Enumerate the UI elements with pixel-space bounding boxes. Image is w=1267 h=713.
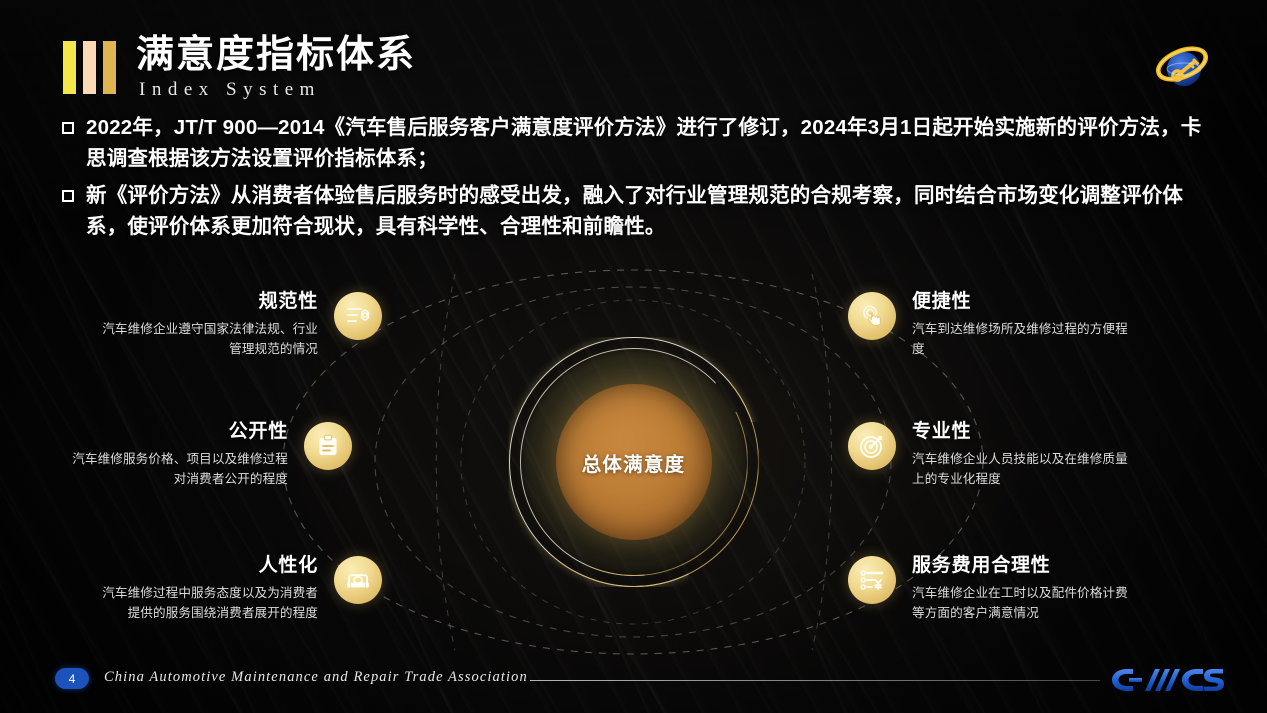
slide-header: 满意度指标体系 Index System [63,36,416,101]
slide-footer: 4 China Automotive Maintenance and Repai… [0,659,1267,713]
node-zhuanye-text: 专业性 汽车维修企业人员技能以及在维修质量上的专业化程度 [912,420,1140,490]
target-dart-icon [848,422,896,470]
car-service-icon [334,556,382,604]
core-group: 总体满意度 [484,312,784,612]
tap-hand-icon [848,292,896,340]
association-name: China Automotive Maintenance and Repair … [104,669,528,686]
accent-bar-2 [83,41,96,94]
node-guifan[interactable]: 规范性 汽车维修企业遵守国家法律法规、行业管理规范的情况 [90,290,382,360]
page-subtitle: Index System [136,79,416,101]
node-bianjie-title: 便捷性 [912,290,971,314]
page-number-badge: 4 [55,668,89,689]
bullet-item-1: 2022年，JT/T 900—2014《汽车售后服务客户满意度评价方法》进行了修… [62,112,1214,174]
index-system-diagram: 总体满意度 规范性 汽车维修企业遵守国家法律法规、行业管理规范的情况 [0,262,1267,662]
square-bullet-icon [62,190,74,202]
accent-bars [63,41,116,94]
certificate-icon [334,292,382,340]
orbit-right-arc [812,274,832,650]
camcs-logo [1109,663,1227,697]
node-bianjie-text: 便捷性 汽车到达维修场所及维修过程的方便程度 [912,290,1140,360]
node-bianjie[interactable]: 便捷性 汽车到达维修场所及维修过程的方便程度 [848,290,1140,360]
accent-bar-3 [103,41,116,94]
node-feiyong-text: 服务费用合理性 汽车维修企业在工时以及配件价格计费等方面的客户满意情况 [912,554,1140,624]
node-renxing[interactable]: 人性化 汽车维修过程中服务态度以及为消费者提供的服务围绕消费者展开的程度 [90,554,382,624]
core-label: 总体满意度 [582,448,686,477]
node-bianjie-desc: 汽车到达维修场所及维修过程的方便程度 [912,319,1140,360]
bullet-list: 2022年，JT/T 900—2014《汽车售后服务客户满意度评价方法》进行了修… [62,112,1214,249]
accent-bar-1 [63,41,76,94]
node-zhuanye-title: 专业性 [912,420,971,444]
node-zhuanye-desc: 汽车维修企业人员技能以及在维修质量上的专业化程度 [912,449,1140,490]
node-feiyong-desc: 汽车维修企业在工时以及配件价格计费等方面的客户满意情况 [912,583,1140,624]
camra-globe-key-logo [1144,36,1222,98]
node-guifan-desc: 汽车维修企业遵守国家法律法规、行业管理规范的情况 [90,319,318,360]
node-renxing-text: 人性化 汽车维修过程中服务态度以及为消费者提供的服务围绕消费者展开的程度 [90,554,318,624]
core-circle: 总体满意度 [556,384,712,540]
bullet-item-2: 新《评价方法》从消费者体验售后服务时的感受出发，融入了对行业管理规范的合规考察，… [62,180,1214,242]
price-list-yuan-icon [848,556,896,604]
node-renxing-title: 人性化 [259,554,318,578]
clipboard-icon [304,422,352,470]
title-block: 满意度指标体系 Index System [136,36,416,101]
page-title: 满意度指标体系 [136,36,416,76]
node-feiyong-title: 服务费用合理性 [912,554,1051,578]
node-guifan-text: 规范性 汽车维修企业遵守国家法律法规、行业管理规范的情况 [90,290,318,360]
node-feiyong[interactable]: 服务费用合理性 汽车维修企业在工时以及配件价格计费等方面的客户满意情况 [848,554,1140,624]
bullet-text-1: 2022年，JT/T 900—2014《汽车售后服务客户满意度评价方法》进行了修… [86,112,1214,174]
node-gongkai-title: 公开性 [229,420,288,444]
square-bullet-icon [62,122,74,134]
bullet-text-2: 新《评价方法》从消费者体验售后服务时的感受出发，融入了对行业管理规范的合规考察，… [86,180,1214,242]
footer-divider [530,680,1100,681]
orbit-left-arc [436,274,455,650]
node-renxing-desc: 汽车维修过程中服务态度以及为消费者提供的服务围绕消费者展开的程度 [90,583,318,624]
node-zhuanye[interactable]: 专业性 汽车维修企业人员技能以及在维修质量上的专业化程度 [848,420,1140,490]
node-guifan-title: 规范性 [259,290,318,314]
node-gongkai-desc: 汽车维修服务价格、项目以及维修过程对消费者公开的程度 [60,449,288,490]
node-gongkai-text: 公开性 汽车维修服务价格、项目以及维修过程对消费者公开的程度 [60,420,288,490]
slide-root: 满意度指标体系 Index System 2022年， [0,0,1267,713]
node-gongkai[interactable]: 公开性 汽车维修服务价格、项目以及维修过程对消费者公开的程度 [60,420,352,490]
